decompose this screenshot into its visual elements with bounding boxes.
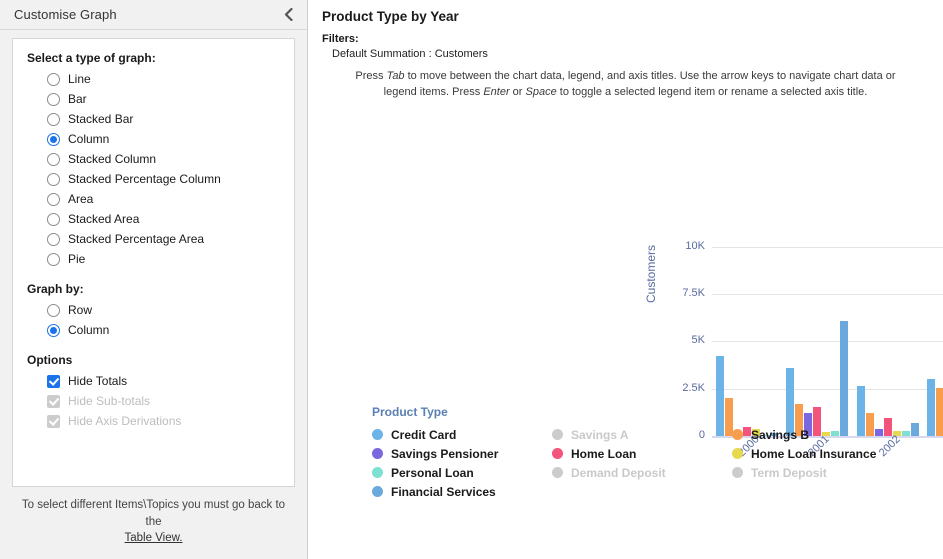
legend-label: Financial Services — [391, 485, 496, 499]
radio-indicator — [47, 213, 60, 226]
option-hide-sub-totals: Hide Sub-totals — [27, 391, 280, 411]
legend-label: Savings B — [751, 428, 809, 442]
option-label: Pie — [68, 252, 85, 266]
legend-item-savings-b[interactable]: Savings B — [732, 425, 932, 444]
option-label: Row — [68, 303, 92, 317]
y-tick-label: 10K — [667, 240, 705, 252]
sidebar-title: Customise Graph — [14, 7, 279, 22]
legend-swatch — [732, 467, 743, 478]
legend-item-financial-services[interactable]: Financial Services — [372, 482, 552, 501]
legend-label: Savings Pensioner — [391, 447, 498, 461]
option-hide-axis-derivations: Hide Axis Derivations — [27, 411, 280, 431]
legend-item-home-loan-insurance[interactable]: Home Loan Insurance — [732, 444, 932, 463]
y-tick-label: 7.5K — [667, 287, 705, 299]
graph-type-option-stacked-column[interactable]: Stacked Column — [27, 149, 280, 169]
chevron-left-icon[interactable] — [279, 6, 297, 24]
graph-type-option-bar[interactable]: Bar — [27, 89, 280, 109]
graph-type-heading: Select a type of graph: — [27, 51, 280, 65]
legend-swatch — [732, 429, 743, 440]
graph-type-option-stacked-percentage-area[interactable]: Stacked Percentage Area — [27, 229, 280, 249]
option-label: Column — [68, 323, 109, 337]
legend-item-personal-loan[interactable]: Personal Loan — [372, 463, 552, 482]
option-label: Hide Totals — [68, 374, 127, 388]
graph-by-radio-group: RowColumn — [27, 300, 280, 340]
sidebar-header: Customise Graph — [0, 0, 307, 30]
accessibility-hint: Press Tab to move between the chart data… — [308, 60, 943, 101]
hint-part-3: or — [510, 86, 526, 98]
sidebar-options-panel: Select a type of graph: LineBarStacked B… — [12, 38, 295, 487]
legend-item-demand-deposit[interactable]: Demand Deposit — [552, 463, 732, 482]
sidebar-footer: To select different Items\Topics you mus… — [0, 487, 307, 559]
legend-swatch — [372, 448, 383, 459]
option-label: Line — [68, 72, 91, 86]
graph-type-option-column[interactable]: Column — [27, 129, 280, 149]
legend-label: Term Deposit — [751, 466, 827, 480]
options-checkbox-group: Hide TotalsHide Sub-totalsHide Axis Deri… — [27, 371, 280, 431]
radio-indicator — [47, 233, 60, 246]
legend-item-savings-pensioner[interactable]: Savings Pensioner — [372, 444, 552, 463]
radio-indicator — [47, 193, 60, 206]
legend-label: Home Loan — [571, 447, 636, 461]
option-label: Stacked Column — [68, 152, 156, 166]
graph-type-option-stacked-percentage-column[interactable]: Stacked Percentage Column — [27, 169, 280, 189]
legend-swatch — [732, 448, 743, 459]
graph-type-option-stacked-area[interactable]: Stacked Area — [27, 209, 280, 229]
legend-label: Personal Loan — [391, 466, 474, 480]
hint-part-4: to toggle a selected legend item or rena… — [557, 86, 868, 98]
legend-swatch — [372, 467, 383, 478]
legend-swatch — [552, 467, 563, 478]
checkbox-indicator — [47, 395, 60, 408]
radio-indicator — [47, 173, 60, 186]
radio-indicator — [47, 113, 60, 126]
sidebar-footer-text: To select different Items\Topics you mus… — [22, 499, 285, 528]
page-title: Product Type by Year — [308, 0, 943, 24]
legend-item-term-deposit[interactable]: Term Deposit — [732, 463, 932, 482]
legend-swatch — [372, 429, 383, 440]
graph-by-option-column[interactable]: Column — [27, 320, 280, 340]
y-tick-label: 5K — [667, 334, 705, 346]
options-heading: Options — [27, 353, 280, 367]
legend-item-credit-card[interactable]: Credit Card — [372, 425, 552, 444]
bar-chart[interactable]: 02.5K5K7.5K10K Customers 200020012002200… — [308, 107, 941, 397]
radio-indicator — [47, 324, 60, 337]
legend-label: Credit Card — [391, 428, 456, 442]
option-label: Hide Axis Derivations — [68, 414, 181, 428]
radio-indicator — [47, 153, 60, 166]
hint-key-space: Space — [526, 86, 557, 98]
hint-key-enter: Enter — [483, 86, 509, 98]
chart-panel: Product Type by Year Filters: Default Su… — [308, 0, 943, 559]
table-view-link[interactable]: Table View. — [125, 532, 183, 544]
filters-label: Filters: — [308, 24, 943, 45]
legend-label: Demand Deposit — [571, 466, 666, 480]
legend-item-home-loan[interactable]: Home Loan — [552, 444, 732, 463]
legend-swatch — [372, 486, 383, 497]
option-label: Area — [68, 192, 93, 206]
y-tick-label: 2.5K — [667, 382, 705, 394]
radio-indicator — [47, 304, 60, 317]
option-label: Hide Sub-totals — [68, 394, 150, 408]
hint-key-tab: Tab — [387, 70, 405, 82]
customise-graph-sidebar: Customise Graph Select a type of graph: … — [0, 0, 308, 559]
option-label: Stacked Bar — [68, 112, 133, 126]
radio-indicator — [47, 93, 60, 106]
option-hide-totals[interactable]: Hide Totals — [27, 371, 280, 391]
graph-type-option-pie[interactable]: Pie — [27, 249, 280, 269]
hint-part-1: Press — [355, 70, 386, 82]
legend-title: Product Type — [372, 405, 932, 419]
legend-item-savings-a[interactable]: Savings A — [552, 425, 732, 444]
customise-graph-window: Customise Graph Select a type of graph: … — [0, 0, 943, 559]
y-axis-title[interactable]: Customers — [644, 245, 658, 303]
legend-spacer — [552, 482, 732, 501]
graph-by-option-row[interactable]: Row — [27, 300, 280, 320]
legend-items: Credit CardSavings PensionerPersonal Loa… — [372, 425, 932, 501]
checkbox-indicator — [47, 375, 60, 388]
radio-indicator — [47, 73, 60, 86]
option-label: Bar — [68, 92, 87, 106]
radio-indicator — [47, 133, 60, 146]
legend-label: Home Loan Insurance — [751, 447, 876, 461]
graph-type-radio-group: LineBarStacked BarColumnStacked ColumnSt… — [27, 69, 280, 269]
legend-swatch — [552, 429, 563, 440]
legend-swatch — [552, 448, 563, 459]
option-label: Stacked Percentage Area — [68, 232, 204, 246]
chart-legend: Product Type Credit CardSavings Pensione… — [372, 405, 932, 501]
graph-type-option-area[interactable]: Area — [27, 189, 280, 209]
graph-type-option-stacked-bar[interactable]: Stacked Bar — [27, 109, 280, 129]
option-label: Stacked Percentage Column — [68, 172, 221, 186]
checkbox-indicator — [47, 415, 60, 428]
option-label: Column — [68, 132, 109, 146]
radio-indicator — [47, 253, 60, 266]
filters-value: Default Summation : Customers — [308, 45, 943, 60]
option-label: Stacked Area — [68, 212, 139, 226]
graph-type-option-line[interactable]: Line — [27, 69, 280, 89]
legend-label: Savings A — [571, 428, 629, 442]
legend-spacer — [732, 482, 932, 501]
bar[interactable] — [936, 388, 943, 436]
graph-by-heading: Graph by: — [27, 282, 280, 296]
